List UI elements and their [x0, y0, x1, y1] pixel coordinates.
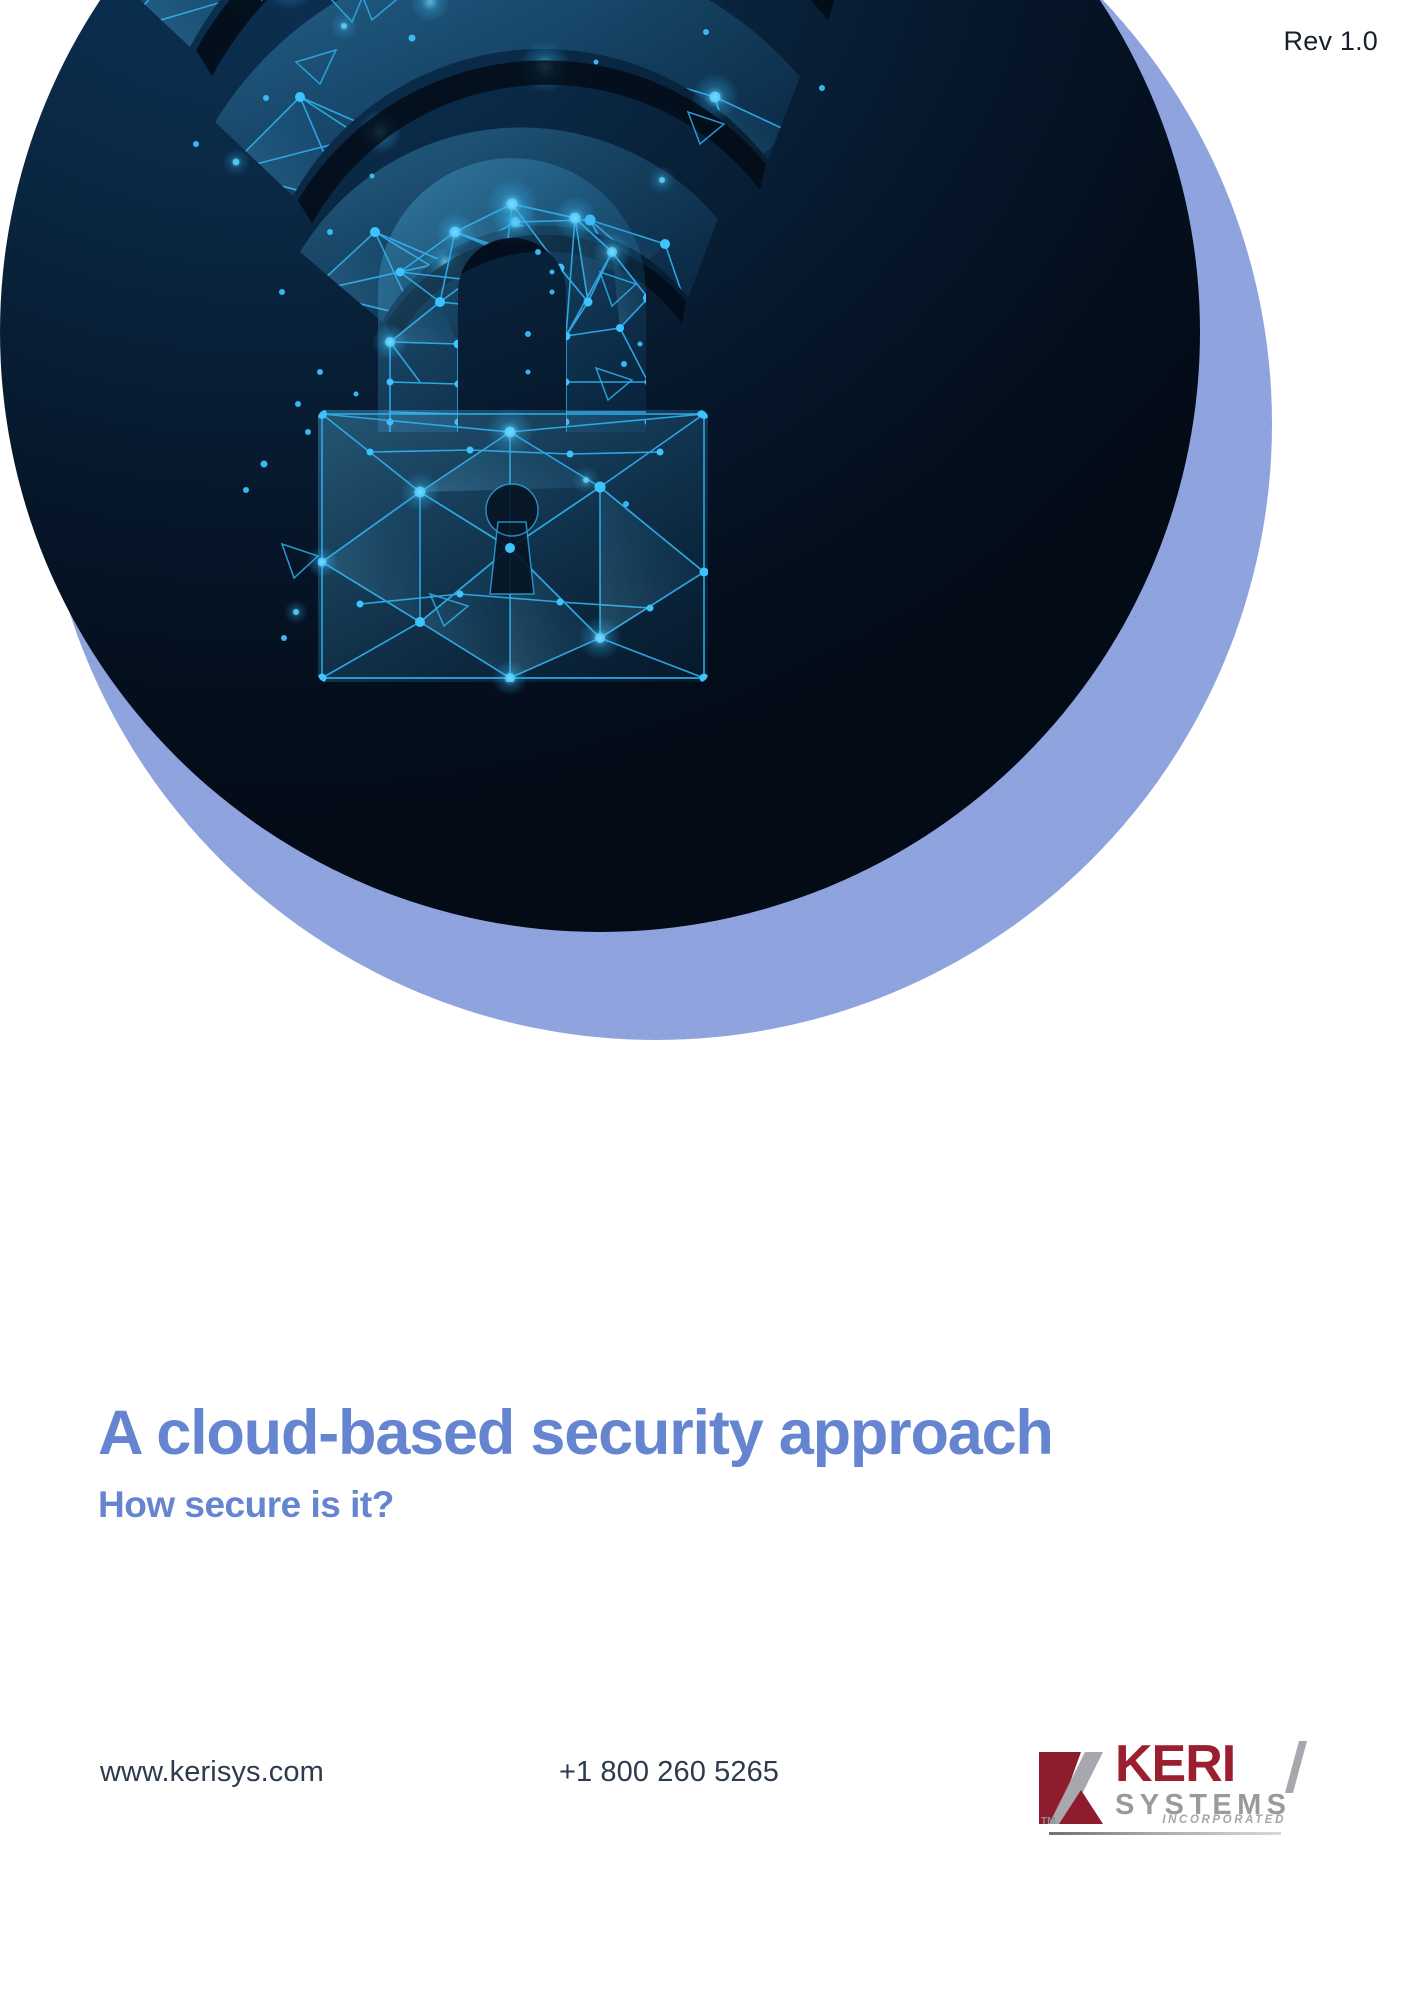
revision-label: Rev 1.0: [1284, 26, 1378, 57]
footer: www.kerisys.com +1 800 260 5265 KERI SYS…: [0, 1742, 1414, 1862]
logo-wordmark: KERI SYSTEMS: [1115, 1740, 1291, 1820]
title-block: A cloud-based security approach How secu…: [98, 1400, 1328, 1525]
page-subtitle: How secure is it?: [98, 1485, 1328, 1526]
logo-trademark-text: TM: [1041, 1816, 1055, 1827]
logo-i-slash-icon: [1285, 1741, 1307, 1793]
website-link[interactable]: www.kerisys.com: [100, 1756, 324, 1789]
keri-logo-mark-icon: [1037, 1750, 1105, 1826]
logo-suffix-text: INCORPORATED: [1162, 1814, 1286, 1826]
wifi-padlock-wireframe-icon: [0, 0, 1200, 932]
page-title: A cloud-based security approach: [98, 1400, 1328, 1467]
hero-artwork: [0, 0, 1414, 1300]
phone-number: +1 800 260 5265: [559, 1756, 779, 1789]
wifi-padlock-image: [0, 0, 1200, 932]
logo-underline-rule: [1049, 1832, 1281, 1835]
keri-systems-logo: KERI SYSTEMS TM INCORPORATED: [1037, 1734, 1282, 1846]
logo-brand-text: KERI: [1115, 1735, 1235, 1793]
